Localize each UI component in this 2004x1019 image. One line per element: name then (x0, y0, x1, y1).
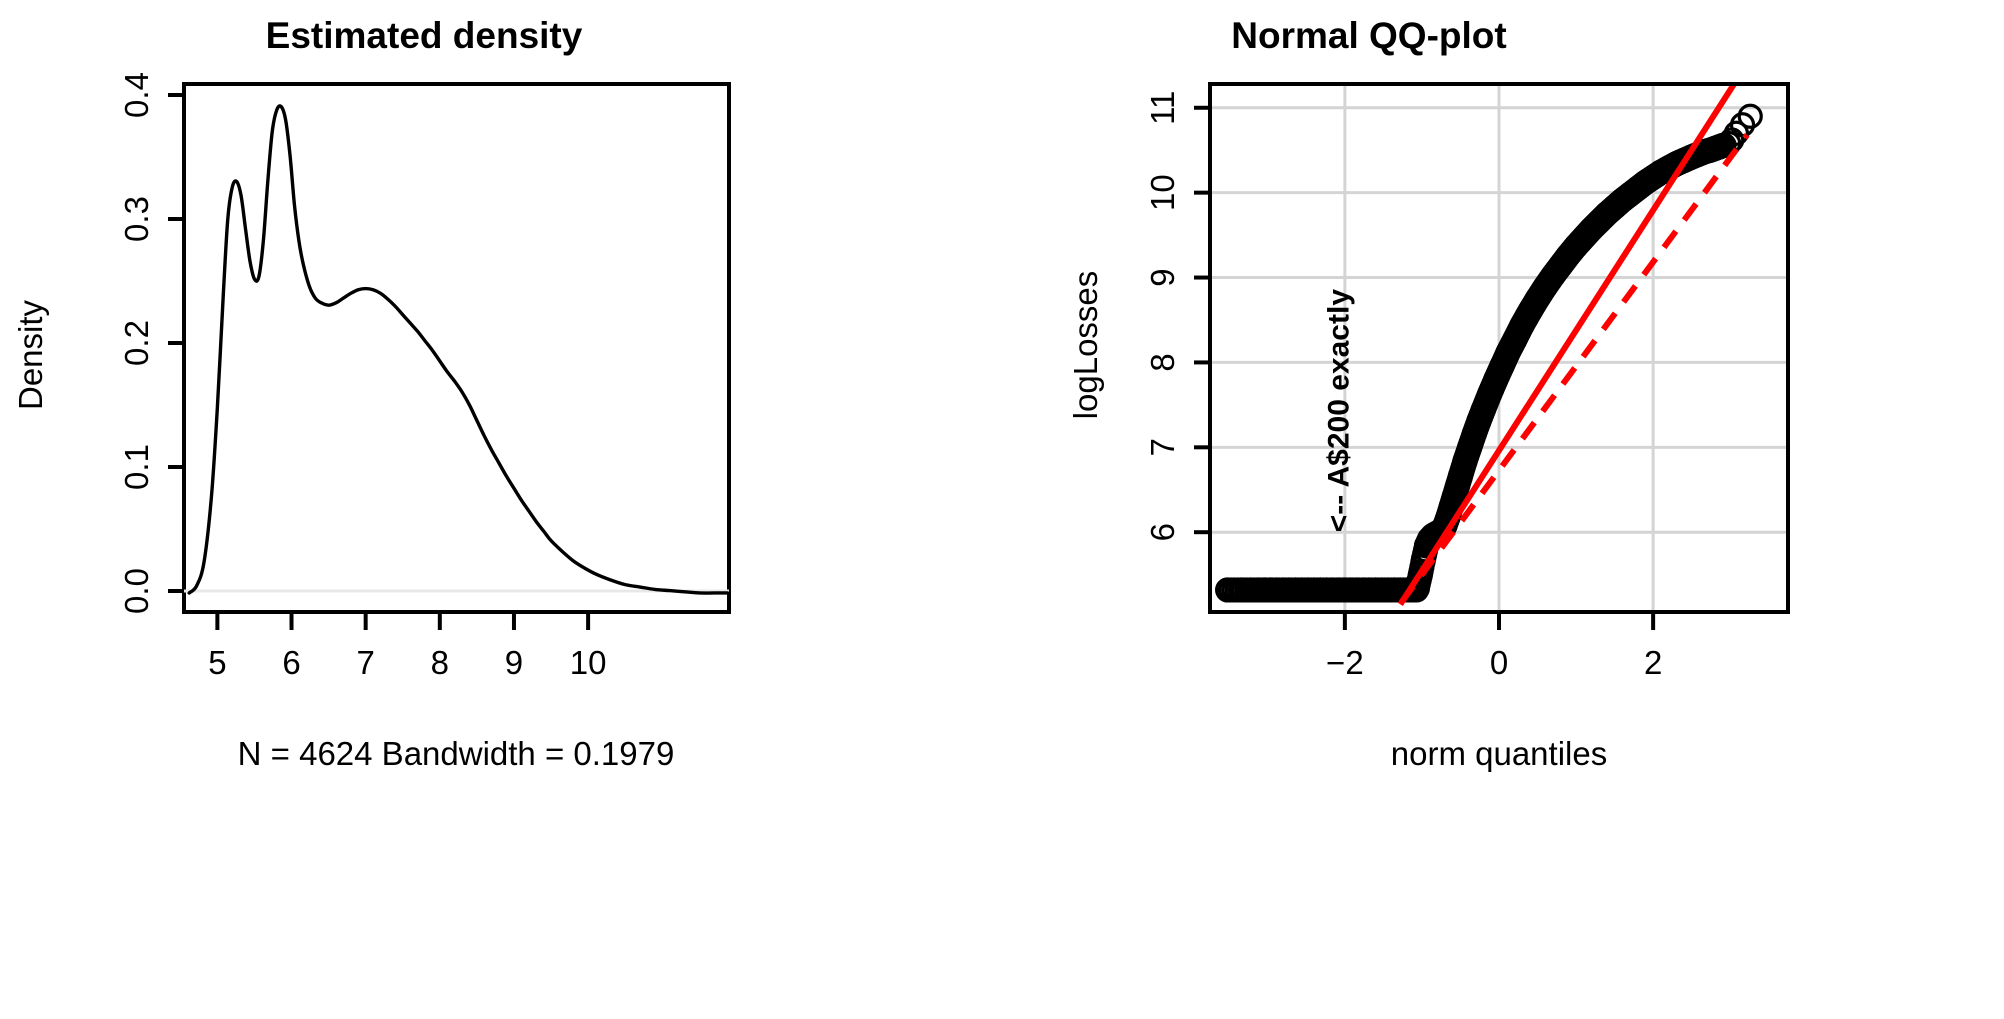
qqplot-data-region (1217, 0, 1777, 604)
density-x-ticks (217, 612, 588, 630)
qqplot-x-tick-label: −2 (1326, 644, 1364, 681)
qqplot-x-ticks (1345, 612, 1653, 630)
density-y-tick-label: 0.2 (118, 320, 155, 366)
qqplot-title: Normal QQ-plot (1231, 15, 1506, 56)
density-x-axis-caption: N = 4624 Bandwidth = 0.1979 (238, 735, 675, 772)
density-y-tick-label: 0.0 (118, 568, 155, 614)
qqplot-svg: Normal QQ-plot logLosses 67891011 (1002, 0, 2004, 1019)
qqplot-x-axis-label: norm quantiles (1391, 735, 1607, 772)
qqplot-y-tick-label: 11 (1144, 91, 1181, 125)
qqplot-x-tick-labels: −202 (1326, 644, 1662, 681)
density-y-tick-label: 0.1 (118, 444, 155, 490)
density-x-tick-label: 6 (282, 644, 300, 681)
density-y-ticks (168, 95, 184, 591)
qqplot-y-tick-label: 8 (1144, 353, 1181, 371)
density-panel: Estimated density Density 0.4 0.3 0.2 0.… (0, 0, 1002, 1019)
density-x-tick-label: 5 (208, 644, 226, 681)
density-curve (189, 106, 727, 593)
qqplot-y-tick-label: 6 (1144, 523, 1181, 541)
density-plot-svg: Estimated density Density 0.4 0.3 0.2 0.… (0, 0, 1002, 1019)
density-x-tick-labels: 5678910 (208, 644, 606, 681)
density-plot-frame (184, 84, 729, 612)
density-x-tick-label: 9 (505, 644, 523, 681)
qqplot-x-tick-label: 0 (1490, 644, 1508, 681)
figure-root: Estimated density Density 0.4 0.3 0.2 0.… (0, 0, 2004, 1019)
density-y-axis-label: Density (12, 299, 49, 410)
density-y-tick-label: 0.4 (118, 72, 155, 118)
density-x-tick-label: 10 (570, 644, 607, 681)
qqplot-y-axis-label: logLosses (1067, 271, 1104, 420)
density-x-tick-label: 7 (356, 644, 374, 681)
qqplot-panel: Normal QQ-plot logLosses 67891011 (1002, 0, 2004, 1019)
qqplot-points (1217, 0, 1777, 601)
qqplot-y-tick-label: 9 (1144, 268, 1181, 286)
qqplot-y-tick-labels: 67891011 (1144, 91, 1181, 542)
qqplot-x-tick-label: 2 (1644, 644, 1662, 681)
density-x-tick-label: 8 (431, 644, 449, 681)
qqplot-y-tick-label: 10 (1144, 174, 1181, 211)
qqplot-y-ticks (1194, 108, 1210, 532)
qqplot-reference-line-solid (1400, 84, 1734, 604)
qqplot-y-tick-label: 7 (1144, 438, 1181, 456)
density-plot-title: Estimated density (266, 15, 583, 56)
density-y-tick-label: 0.3 (118, 196, 155, 242)
qqplot-point (1755, 0, 1777, 11)
density-y-tick-labels: 0.4 0.3 0.2 0.1 0.0 (118, 72, 155, 614)
qqplot-annotation: <-- A$200 exactly (1323, 289, 1356, 533)
